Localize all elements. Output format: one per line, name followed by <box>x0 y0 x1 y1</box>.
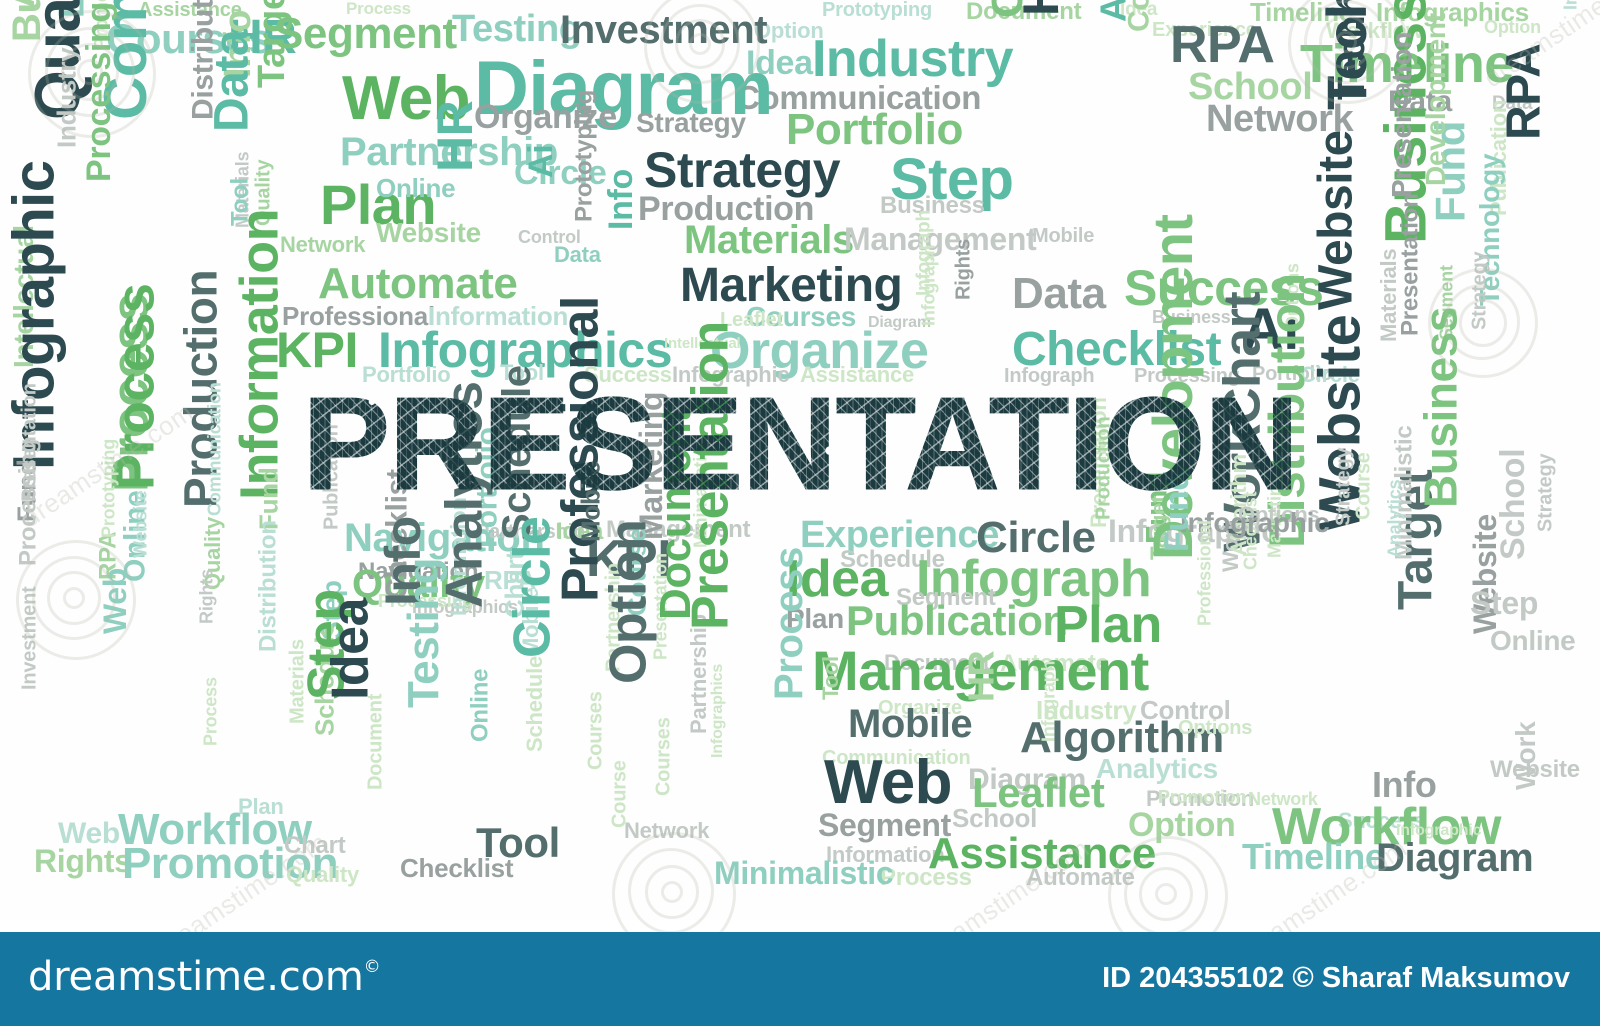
cloud-word: Website <box>376 222 481 245</box>
cloud-word: Tool <box>476 826 560 860</box>
cloud-word: Rights <box>956 239 972 300</box>
cloud-word: Data <box>554 246 601 264</box>
cloud-word: Publication <box>846 604 1068 638</box>
cloud-word: Diagram <box>1376 842 1533 875</box>
cloud-word: Analytics <box>1096 758 1218 781</box>
cloud-word: Minimalistic <box>714 860 893 886</box>
cloud-word: Professional <box>559 296 602 602</box>
cloud-word: Online <box>376 178 455 199</box>
cloud-word: HR <box>435 101 476 172</box>
cloud-word: Schedule <box>526 656 544 752</box>
cloud-word: Information <box>238 209 282 500</box>
cloud-word: Professional <box>1197 520 1212 626</box>
cloud-word: Plan <box>238 798 284 816</box>
cloud-word: Process <box>203 677 218 746</box>
cloud-word: Marketing <box>680 266 902 305</box>
cloud-word: Segment <box>274 16 457 52</box>
cloud-word: Prototyping <box>574 90 594 222</box>
cloud-word: Infograph <box>921 245 936 326</box>
cloud-word: RPA <box>1170 24 1274 67</box>
cloud-word: Chart <box>284 836 345 856</box>
cloud-word: Investment <box>560 14 767 47</box>
word-cloud-image: AssistanceProcessOptionPrototypingDocume… <box>0 0 1600 1026</box>
cloud-word: Processing <box>86 2 114 182</box>
cloud-word: Rights <box>199 569 214 624</box>
cloud-word: Online <box>470 669 490 742</box>
cloud-word: Option <box>607 520 650 684</box>
cloud-word: Option <box>1484 20 1541 35</box>
cloud-word: Circle <box>511 517 554 658</box>
cloud-word: Process <box>114 284 158 490</box>
cloud-word: Ai <box>528 145 556 178</box>
cloud-word: Course <box>1356 452 1372 520</box>
cloud-word: Strategy <box>1538 454 1554 532</box>
cloud-word: Presentation <box>1391 32 1414 198</box>
cloud-word: Presentation <box>689 321 732 630</box>
cloud-word: Step <box>1470 590 1538 616</box>
cloud-word: Idea <box>329 598 372 700</box>
cloud-word: Data <box>1012 276 1106 312</box>
cloud-word: Process <box>773 547 806 700</box>
image-credit: ID 204355102 © Sharaf Maksumov <box>1102 962 1570 995</box>
cloud-word: Tool <box>822 656 840 700</box>
cloud-word: Strategy <box>1472 252 1488 330</box>
cloud-word: Online <box>1490 630 1575 653</box>
cloud-word: Control <box>1127 0 1152 32</box>
cloud-word: Infograph <box>1041 661 1056 742</box>
cloud-word: Industry <box>57 48 78 149</box>
cloud-word: Mobile <box>848 708 972 741</box>
cloud-word: Target <box>257 0 288 88</box>
cloud-word: Technology <box>1324 0 1370 110</box>
cloud-word: Courses <box>588 691 604 770</box>
cloud-word: HRChart <box>1021 0 1062 16</box>
cloud-word: Website <box>1490 760 1580 780</box>
cloud-word: Analytics <box>443 381 486 608</box>
cloud-word: Website <box>1317 130 1356 310</box>
cloud-word: Courses <box>656 717 672 796</box>
cloud-word: Distribution <box>258 520 278 652</box>
cloud-word: Strategy <box>644 150 840 191</box>
cloud-word: Analytics <box>1387 480 1402 558</box>
cloud-word: Intellectual <box>1563 0 1578 10</box>
cloud-word: Assistance <box>800 366 914 384</box>
cloud-word: Promotion <box>1158 790 1246 805</box>
cloud-word: School <box>952 808 1037 829</box>
cloud-word: Timeline <box>1242 842 1385 872</box>
cloud-word: Business <box>1422 307 1460 508</box>
cloud-word: Document <box>368 694 384 790</box>
cloud-word: Rights <box>34 848 132 874</box>
cloud-word: Production <box>1096 416 1112 520</box>
cloud-word: Prototyping <box>822 2 932 18</box>
cloud-word: Development <box>1425 13 1448 186</box>
cloud-word: Materials <box>1380 249 1398 342</box>
cloud-word: Industry <box>812 38 1013 81</box>
cloud-word: Process <box>880 868 972 888</box>
cloud-word: Infograph <box>1004 368 1094 384</box>
cloud-word: Management <box>844 226 1036 252</box>
cloud-word: Strategy <box>1336 448 1352 526</box>
cloud-word: Info <box>608 169 636 230</box>
cloud-word: Automate <box>318 266 517 302</box>
cloud-word: Publication <box>324 424 340 530</box>
cloud-word: Web <box>824 758 952 809</box>
cloud-word: Investment <box>22 586 38 690</box>
cloud-word: Strategy <box>636 112 746 135</box>
word-cloud-canvas: AssistanceProcessOptionPrototypingDocume… <box>0 0 1600 920</box>
cloud-word: Quality <box>286 866 359 884</box>
cloud-word: Infographic <box>1396 824 1481 837</box>
cloud-word: Materials <box>684 224 854 257</box>
cloud-word: Network <box>280 236 365 254</box>
cloud-word: Info <box>1372 770 1437 800</box>
cloud-word: Partnership <box>690 614 708 734</box>
brand-label: dreamstime.com <box>28 954 364 1000</box>
cloud-word: Mobile <box>1032 228 1094 244</box>
cloud-word: Network <box>624 822 709 840</box>
cloud-word: Options <box>1178 720 1252 736</box>
dreamstime-logo[interactable]: dreamstime.com© <box>28 954 380 1000</box>
cloud-word: Communication <box>207 382 222 516</box>
cloud-word: School <box>1500 449 1528 560</box>
cloud-word: HR <box>966 651 996 702</box>
cloud-word: Testing <box>406 558 442 708</box>
cloud-word: Schedule <box>501 365 534 540</box>
stock-footer-bar: dreamstime.com© ID 204355102 © Sharaf Ma… <box>0 932 1600 1026</box>
cloud-word: Infographics <box>711 664 724 758</box>
registered-mark: © <box>364 957 381 977</box>
cloud-word: Prototyping <box>101 439 116 538</box>
cloud-word: Presentation <box>22 383 38 502</box>
cloud-word: Fund <box>1164 470 1192 552</box>
cloud-word: Automate <box>1026 868 1135 888</box>
cloud-word: Website <box>133 491 148 558</box>
cloud-word: Distribution <box>191 0 216 120</box>
